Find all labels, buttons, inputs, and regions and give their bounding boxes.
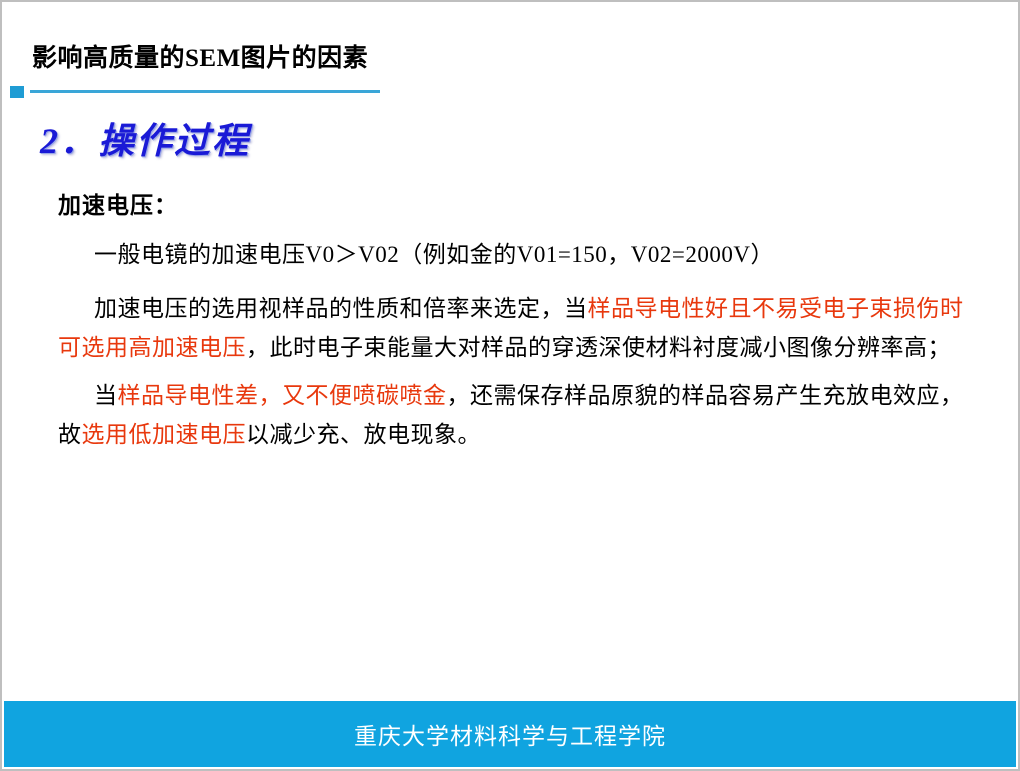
paragraph-3-part-5: 以减少充、放电现象。 (246, 422, 481, 447)
header-rule (30, 90, 380, 93)
page-title: 影响高质量的SEM图片的因素 (32, 38, 368, 74)
paragraph-2-part-1: 加速电压的选用视样品的性质和倍率来选定，当 (94, 296, 588, 321)
slide: 影响高质量的SEM图片的因素 2．操作过程 加速电压： 一般电镜的加速电压V0＞… (0, 0, 1020, 771)
header-rule-tab (10, 86, 24, 98)
body-paragraph-1: 一般电镜的加速电压V0＞V02（例如金的V01=150，V02=2000V） (58, 235, 978, 275)
paragraph-3-highlight-2: 选用低加速电压 (82, 422, 247, 447)
footer-separator (4, 693, 1016, 701)
section-heading: 2．操作过程 (40, 112, 250, 164)
body-paragraph-2: 加速电压的选用视样品的性质和倍率来选定，当样品导电性好且不易受电子束损伤时可选用… (58, 289, 978, 368)
paragraph-3-part-1: 当 (94, 383, 118, 408)
body-paragraph-3: 当样品导电性差，又不便喷碳喷金，还需保存样品原貌的样品容易产生充放电效应，故选用… (58, 376, 978, 455)
body-lead: 加速电压： (58, 194, 978, 217)
footer-bar: 重庆大学材料科学与工程学院 (4, 701, 1016, 767)
paragraph-2-part-3: ，此时电子束能量大对样品的穿透深使材料衬度减小图像分辨率高； (246, 335, 951, 360)
footer-text: 重庆大学材料科学与工程学院 (354, 717, 666, 751)
paragraph-3-highlight-1: 样品导电性差，又不便喷碳喷金 (118, 383, 447, 408)
body-content: 加速电压： 一般电镜的加速电压V0＞V02（例如金的V01=150，V02=20… (58, 194, 978, 463)
